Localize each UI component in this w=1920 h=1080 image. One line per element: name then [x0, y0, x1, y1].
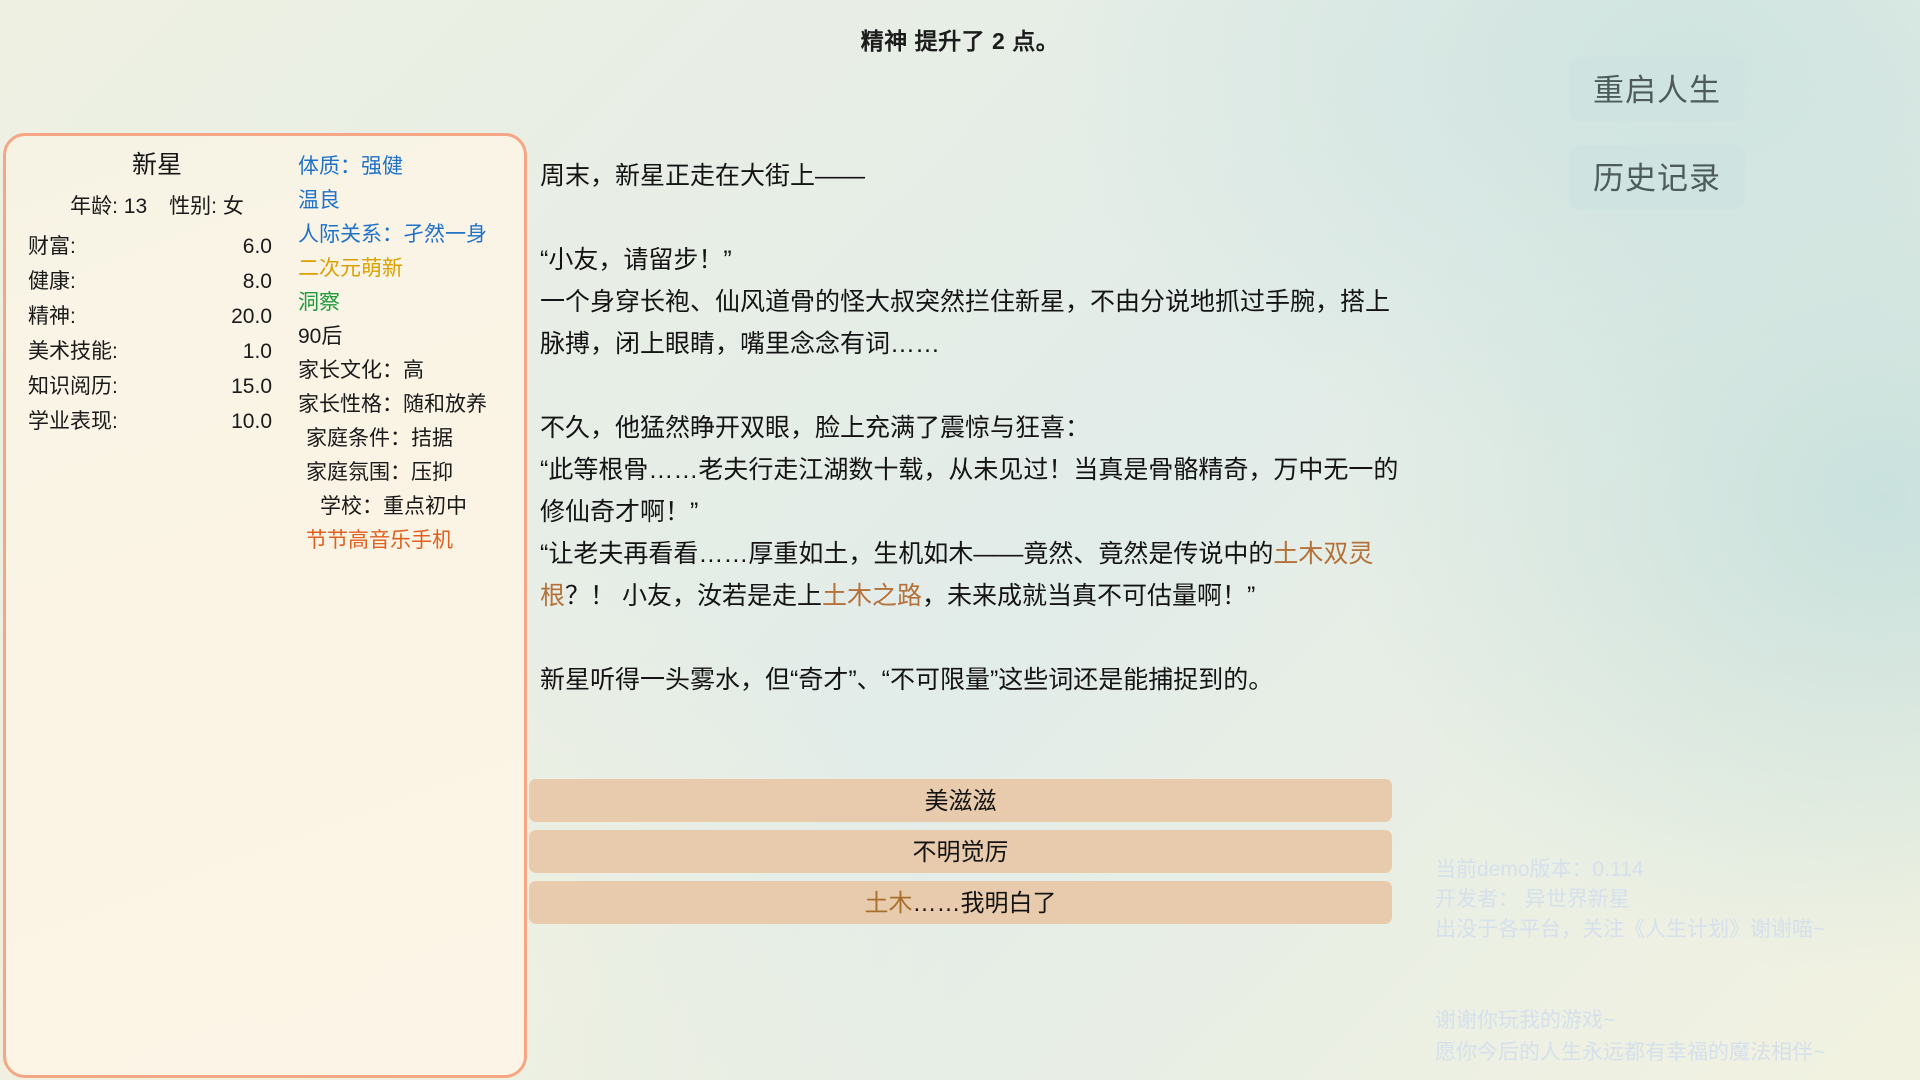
paragraph-spacer	[540, 365, 1402, 407]
developer-label: 开发者：	[1435, 888, 1519, 911]
paragraph-spacer	[540, 197, 1402, 239]
attribute-value: 8.0	[243, 270, 272, 294]
gender-label: 性别: 女	[169, 190, 244, 220]
background-tag: 家长文化：高	[298, 354, 508, 388]
choice-option-3[interactable]: 土木……我明白了	[529, 881, 1392, 924]
story-paragraph-highlighted: “让老夫再看看……厚重如土，生机如木——竟然、竟然是传说中的土木双灵根？！ 小友…	[540, 533, 1402, 617]
attribute-label: 健康:	[28, 270, 76, 294]
thanks-block: 谢谢你玩我的游戏~ 愿你今后的人生永远都有幸福的魔法相伴~	[1435, 1005, 1825, 1069]
path-highlight: 土木之路	[822, 582, 922, 610]
platform-row: 出没于各平台，关注《人生计划》谢谢喵~	[1435, 915, 1825, 945]
trait-tag: 温良	[298, 184, 508, 218]
paragraph-spacer	[540, 617, 1402, 659]
story-paragraph: 周末，新星正走在大街上——	[540, 155, 1402, 197]
attribute-value: 20.0	[231, 305, 272, 329]
attribute-label: 美术技能:	[28, 340, 118, 364]
trait-tag: 洞察	[298, 286, 508, 320]
attribute-label: 精神:	[28, 305, 76, 329]
attribute-row: 财富: 6.0	[22, 229, 292, 264]
attribute-value: 1.0	[243, 340, 272, 364]
version-value: 0.114	[1593, 858, 1644, 881]
identity-row: 年龄: 13 性别: 女	[22, 190, 292, 229]
choice-option-1[interactable]: 美滋滋	[529, 779, 1392, 822]
attribute-row: 精神: 20.0	[22, 299, 292, 334]
trait-tag: 90后	[298, 320, 508, 354]
history-record-button[interactable]: 历史记录	[1569, 145, 1745, 210]
background-tag: 家长性格：随和放养	[298, 388, 508, 422]
attribute-value: 15.0	[231, 375, 272, 399]
developer-row: 开发者： 异世界新星	[1435, 885, 1825, 915]
restart-life-button[interactable]: 重启人生	[1569, 57, 1745, 122]
thanks-line-2: 愿你今后的人生永远都有幸福的魔法相伴~	[1435, 1037, 1825, 1069]
attribute-value: 10.0	[231, 410, 272, 434]
choice-label: ……我明白了	[913, 890, 1057, 917]
story-paragraph: 不久，他猛然睁开双眼，脸上充满了震惊与狂喜：	[540, 407, 1402, 449]
story-text-segment: ，未来成就当真不可估量啊！”	[922, 582, 1255, 610]
character-name: 新星	[22, 150, 292, 190]
attribute-row: 美术技能: 1.0	[22, 334, 292, 369]
background-tag: 学校：重点初中	[298, 490, 508, 524]
choice-list: 美滋滋 不明觉厉 土木……我明白了	[529, 779, 1392, 932]
attribute-label: 知识阅历:	[28, 375, 118, 399]
attribute-row: 学业表现: 10.0	[22, 405, 292, 440]
story-text-area: 周末，新星正走在大街上—— “小友，请留步！” 一个身穿长袍、仙风道骨的怪大叔突…	[540, 155, 1402, 701]
choice-highlight: 土木	[865, 890, 913, 917]
stats-attributes-column: 新星 年龄: 13 性别: 女 财富: 6.0 健康: 8.0 精神: 20.0…	[22, 150, 292, 558]
story-text-segment: “让老夫再看看……厚重如土，生机如木——竟然、竟然是传说中的	[540, 540, 1273, 568]
background-tag: 家庭条件：拮据	[298, 422, 508, 456]
attribute-value: 6.0	[243, 235, 272, 259]
stats-tags-column: 体质：强健 温良 人际关系：孑然一身 二次元萌新 洞察 90后 家长文化：高 家…	[292, 150, 508, 558]
stat-change-toast: 精神 提升了 2 点。	[0, 22, 1920, 56]
version-row: 当前demo版本：0.114	[1435, 855, 1825, 885]
background-tag: 家庭氛围：压抑	[298, 456, 508, 490]
story-text-segment: ？！ 小友，汝若是走上	[565, 582, 822, 610]
attribute-label: 学业表现:	[28, 410, 118, 434]
attribute-label: 财富:	[28, 235, 76, 259]
choice-option-2[interactable]: 不明觉厉	[529, 830, 1392, 873]
story-paragraph: 一个身穿长袍、仙风道骨的怪大叔突然拦住新星，不由分说地抓过手腕，搭上脉搏，闭上眼…	[540, 281, 1402, 365]
age-label: 年龄: 13	[70, 190, 147, 220]
attribute-row: 健康: 8.0	[22, 264, 292, 299]
trait-tag: 二次元萌新	[298, 252, 508, 286]
story-paragraph: “小友，请留步！”	[540, 239, 1402, 281]
story-paragraph: 新星听得一头雾水，但“奇才”、“不可限量”这些词还是能捕捉到的。	[540, 659, 1402, 701]
character-stats-panel: 新星 年龄: 13 性别: 女 财富: 6.0 健康: 8.0 精神: 20.0…	[3, 133, 527, 1078]
trait-tag: 体质：强健	[298, 150, 508, 184]
item-tag: 节节高音乐手机	[298, 524, 508, 558]
credits-block: 当前demo版本：0.114 开发者： 异世界新星 出没于各平台，关注《人生计划…	[1435, 855, 1825, 945]
trait-tag: 人际关系：孑然一身	[298, 218, 508, 252]
attribute-row: 知识阅历: 15.0	[22, 370, 292, 405]
version-label: 当前demo版本：	[1435, 858, 1593, 881]
developer-value: 异世界新星	[1525, 888, 1630, 911]
story-paragraph: “此等根骨……老夫行走江湖数十载，从未见过！当真是骨骼精奇，万中无一的修仙奇才啊…	[540, 449, 1402, 533]
thanks-line-1: 谢谢你玩我的游戏~	[1435, 1005, 1825, 1037]
